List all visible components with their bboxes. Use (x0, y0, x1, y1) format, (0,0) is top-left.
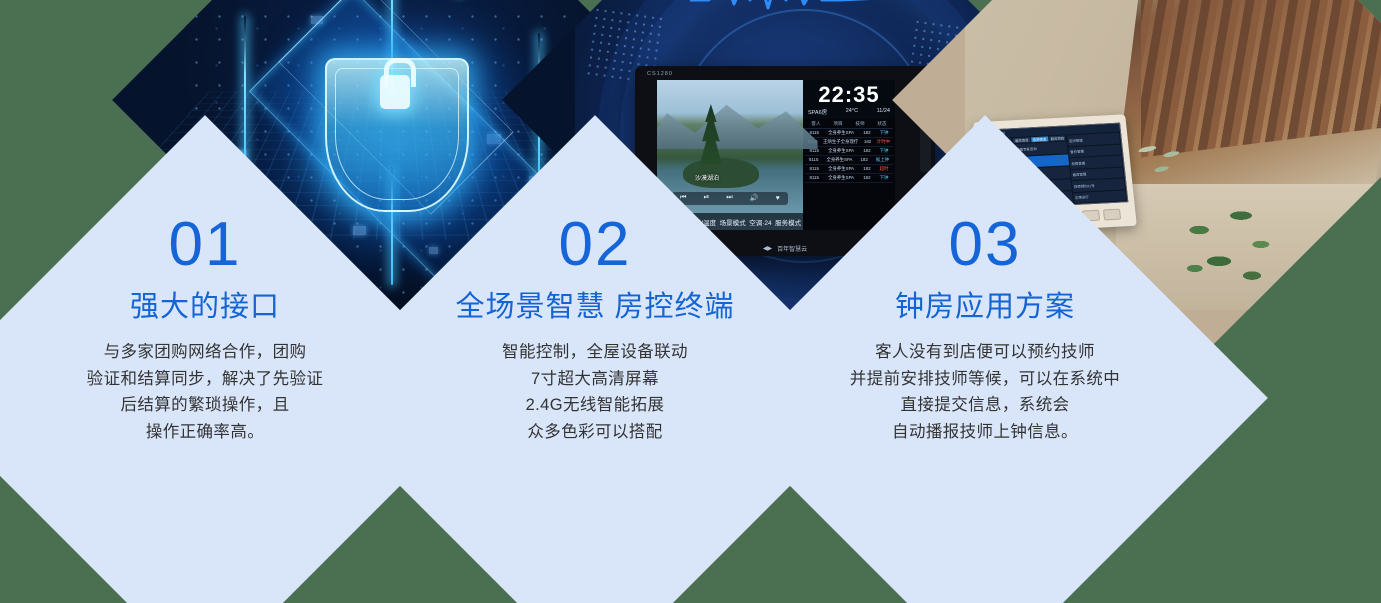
desc-line: 7寸超大高清屏幕 (502, 366, 688, 393)
cell-guest: 8115 (809, 157, 818, 163)
card-title-01: 强大的接口 (130, 290, 280, 326)
cell-status: 候上钟 (876, 157, 889, 163)
cell-status: 下钟 (880, 148, 889, 154)
tab-service-item[interactable]: 服务项目 (1049, 135, 1066, 141)
media-controls[interactable]: ⏮ ⏯ ⏭ 🔊 ♥ (672, 192, 789, 205)
scene-label: 沙漠湖泊 (695, 173, 719, 182)
tablet-screen[interactable]: 沙漠湖泊 ⏮ ⏯ ⏭ 🔊 ♥ 呼叫服务 灯光/温度 (657, 80, 895, 230)
cell-item: 全身养生SPA (828, 175, 854, 181)
card-number-03: 03 (949, 214, 1022, 276)
card-title-03: 钟房应用方案 (895, 290, 1075, 326)
desc-line: 2.4G无线智能拓展 (502, 392, 688, 419)
desc-line: 智能控制，全屋设备联动 (502, 339, 688, 366)
pulse-wave-icon (690, 0, 880, 12)
desc-line: 验证和结算同步，解决了先验证 (87, 366, 324, 393)
table-row: 8115 全身养生SPA 182 超时 (805, 165, 893, 174)
tab-tech-info[interactable]: 技师信息 (1031, 136, 1048, 142)
panel-menu-column-right[interactable]: 区间管理 售价管理 权限管理 客房管理 技师预约21号 正常运行 (1067, 133, 1127, 203)
card-title-02: 全场景智慧 房控终端 (455, 290, 734, 326)
col-tech: 技师 (855, 121, 864, 127)
cell-tech: 182 (863, 148, 870, 154)
cell-tech: 182 (860, 157, 867, 163)
cell-item: 全身养生SPA (828, 148, 854, 154)
cell-status: 计时中 (877, 139, 890, 145)
col-item: 项目 (833, 121, 842, 127)
tab-room-info[interactable]: 客房信息 (1013, 137, 1030, 143)
favorite-icon[interactable]: ♥ (776, 195, 780, 202)
hw-button[interactable] (1103, 209, 1121, 221)
clock-meta: SPA6房 24°C 11/24 (806, 108, 892, 116)
table-header: 客人 项目 技师 状态 (805, 121, 893, 129)
cell-item: 全身养生SPA (828, 130, 854, 136)
cell-status: 超时 (880, 166, 889, 172)
card-desc-03: 客人没有到店便可以预约技师 并提前安排技师等候，可以在系统中 直接提交信息，系统… (850, 339, 1120, 446)
title-line: 强大的接口 (130, 291, 280, 323)
lock-icon (380, 75, 410, 109)
cell-tech: 182 (863, 130, 870, 136)
table-row: 8115 全身养生SPA 182 下钟 (805, 174, 893, 183)
tab-scene-mode[interactable]: 场景模式 (720, 217, 746, 227)
desc-line: 自动播报技师上钟信息。 (850, 419, 1120, 446)
screen-right-column: 22:35 SPA6房 24°C 11/24 客人 项目 (803, 80, 895, 230)
clock-widget: 22:35 SPA6房 24°C 11/24 (803, 80, 895, 119)
desc-line: 操作正确率高。 (87, 419, 324, 446)
card-desc-02: 智能控制，全屋设备联动 7寸超大高清屏幕 2.4G无线智能拓展 众多色彩可以搭配 (502, 339, 688, 446)
brand-name: 百年智慧云 (777, 244, 807, 253)
cell-tech: 182 (863, 166, 870, 172)
service-table: 客人 项目 技师 状态 8115 全身养生SPA 182 下钟 (803, 119, 895, 230)
desc-line: 并提前安排技师等候，可以在系统中 (850, 366, 1120, 393)
card-desc-01: 与多家团购网络合作，团购 验证和结算同步，解决了先验证 后结算的繁琐操作，且 操… (87, 339, 324, 446)
title-line: 房控终端 (615, 291, 735, 323)
brand-mark-icon: ◀▶ (763, 245, 772, 252)
desc-line: 客人没有到店便可以预约技师 (850, 339, 1120, 366)
title-line: 钟房应用方案 (895, 291, 1075, 323)
play-icon[interactable]: ⏯ (704, 194, 710, 202)
desc-line: 后结算的繁琐操作，且 (87, 392, 324, 419)
clock-time: 22:35 (806, 84, 892, 106)
table-row: 8115 王炳生子全身理疗 182 计时中 (805, 138, 893, 147)
infographic-canvas: CS1280 沙漠湖泊 ⏮ ⏯ ⏭ 🔊 (0, 0, 1381, 603)
temperature-label: 24°C (846, 108, 858, 116)
table-row: 8115 全身养生SPA 182 下钟 (805, 147, 893, 156)
col-status: 状态 (877, 121, 886, 127)
desc-line: 直接提交信息，系统会 (850, 392, 1120, 419)
feature-card-03-content: 03 钟房应用方案 客人没有到店便可以预约技师 并提前安排技师等候，可以在系统中… (785, 198, 1185, 598)
col-guest: 客人 (811, 121, 820, 127)
cell-status: 下钟 (880, 130, 889, 136)
table-row: 8115 全身养生SPA 182 候上钟 (805, 156, 893, 165)
tablet-top-brand: CS1280 (647, 71, 673, 77)
tab-aircon[interactable]: 空调·24 (749, 216, 771, 226)
panel-status-text: 正常运行 (1073, 190, 1127, 203)
cell-tech: 182 (864, 139, 871, 145)
title-line: 全场景智慧 (455, 291, 605, 323)
cell-status: 下钟 (880, 175, 889, 181)
cell-guest: 8115 (810, 175, 819, 181)
cell-item: 王炳生子全身理疗 (823, 139, 858, 145)
volume-icon[interactable]: 🔊 (750, 194, 759, 202)
cell-guest: 8115 (810, 166, 819, 172)
tab-service-mode[interactable]: 服务模式 (775, 216, 801, 226)
cell-tech: 182 (863, 175, 870, 181)
desc-line: 众多色彩可以搭配 (502, 419, 688, 446)
card-number-02: 02 (559, 214, 632, 276)
mountain-shape (657, 95, 818, 149)
room-label: SPA6房 (808, 108, 827, 116)
potted-plant (1175, 182, 1285, 302)
cell-item: 全身养生SPA (826, 157, 852, 163)
table-row: 8115 全身养生SPA 182 下钟 (805, 129, 893, 138)
cell-item: 全身养生SPA (828, 166, 854, 172)
desc-line: 与多家团购网络合作，团购 (87, 339, 324, 366)
card-number-01: 01 (169, 214, 242, 276)
date-label: 11/24 (877, 108, 890, 116)
next-icon[interactable]: ⏭ (726, 194, 732, 202)
